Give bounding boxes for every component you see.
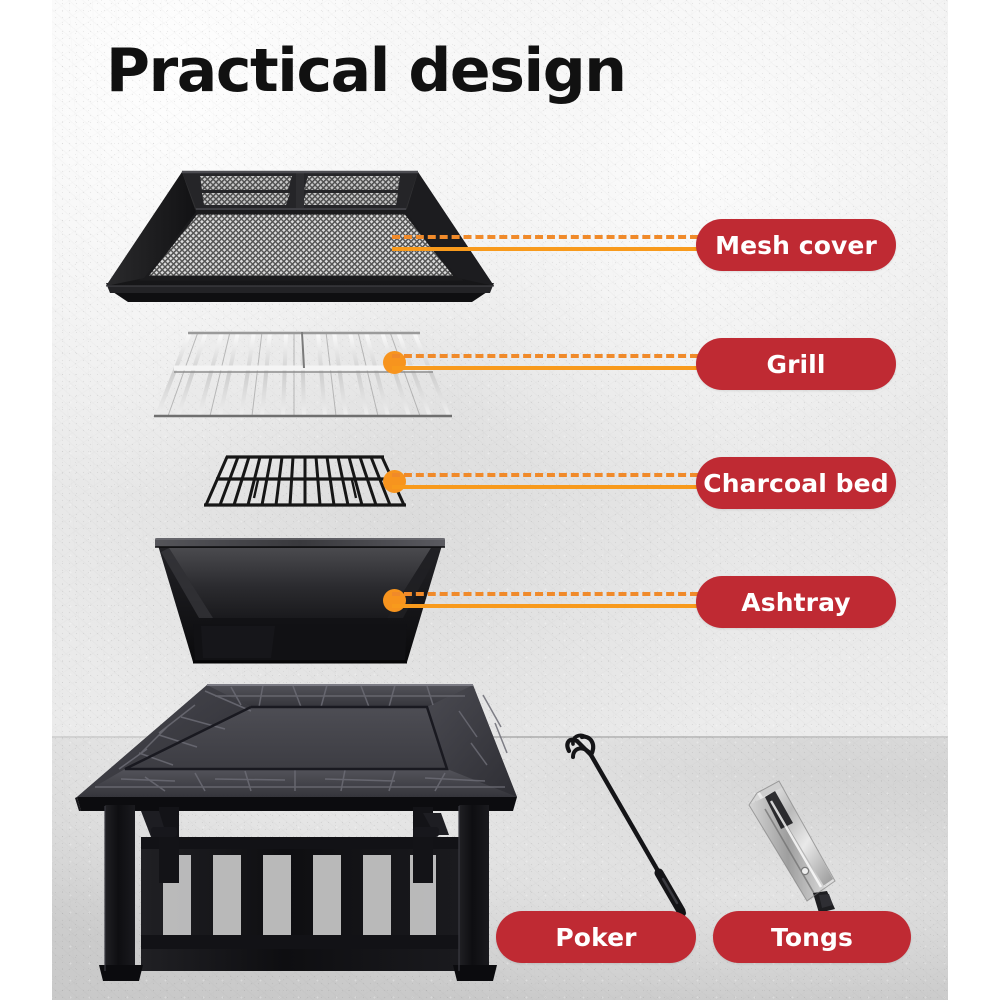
connector-grill <box>392 352 698 374</box>
connector-solid-line <box>392 366 698 370</box>
connector-dashed-line <box>392 592 698 596</box>
product-poker <box>555 725 695 920</box>
callout-pill-poker[interactable]: Poker <box>496 911 696 963</box>
connector-ashtray <box>392 590 698 612</box>
product-tongs <box>735 775 855 920</box>
connector-dashed-line <box>392 473 698 477</box>
callout-pill-grill[interactable]: Grill <box>696 338 896 390</box>
callout-pill-charcoal-bed[interactable]: Charcoal bed <box>696 457 896 509</box>
infographic-page: Practical design Mesh cover Grill Charco… <box>0 0 1000 1000</box>
connector-mesh-cover <box>392 233 698 255</box>
connector-dashed-line <box>392 235 698 239</box>
callout-pill-tongs[interactable]: Tongs <box>713 911 911 963</box>
callout-pill-ashtray[interactable]: Ashtray <box>696 576 896 628</box>
connector-solid-line <box>392 247 698 251</box>
connector-solid-line <box>392 604 698 608</box>
page-title: Practical design <box>106 36 626 106</box>
product-charcoal-bed <box>200 452 410 512</box>
product-fire-pit-table <box>55 665 545 990</box>
callout-pill-mesh-cover[interactable]: Mesh cover <box>696 219 896 271</box>
connector-dashed-line <box>392 354 698 358</box>
connector-charcoal-bed <box>392 471 698 493</box>
connector-solid-line <box>392 485 698 489</box>
product-grill <box>152 325 452 425</box>
